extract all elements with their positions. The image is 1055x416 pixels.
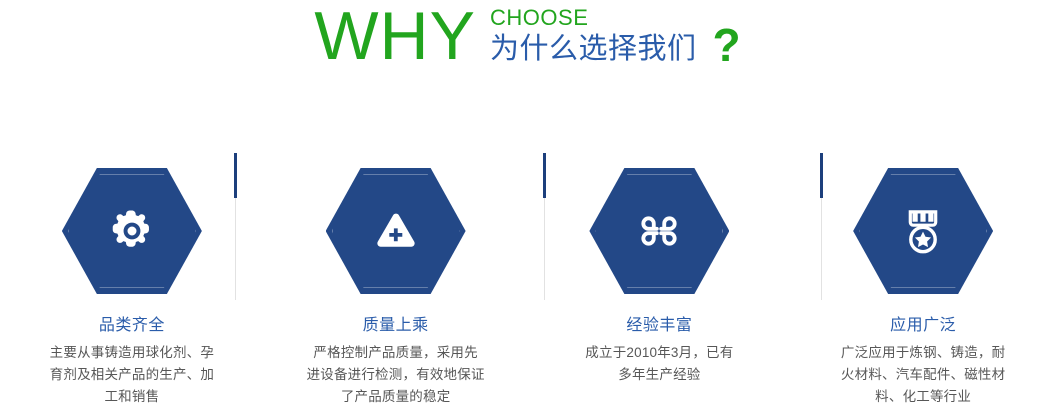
feature-card-title: 品类齐全 — [99, 316, 165, 336]
desc-line: 多年生产经验 — [552, 364, 767, 386]
card-divider-2 — [543, 153, 546, 300]
header-chinese-title: 为什么选择我们 — [490, 32, 697, 66]
divider-line-segment — [235, 198, 236, 300]
feature-card-row: 品类齐全 主要从事铸造用球化剂、孕 育剂及相关产品的生产、加 工和销售 质量上乘… — [0, 150, 1055, 416]
feature-card-4: 应用广泛 广泛应用于炼钢、铸造，耐 火材料、汽车配件、磁性材 料、化工等行业 — [791, 150, 1055, 416]
section-header: WHY CHOOSE 为什么选择我们 ? — [0, 0, 1055, 96]
header-choose-word: CHOOSE — [490, 6, 697, 30]
feature-card-title: 质量上乘 — [363, 316, 429, 336]
desc-line: 工和销售 — [24, 386, 239, 408]
feature-card-description: 广泛应用于炼钢、铸造，耐 火材料、汽车配件、磁性材 料、化工等行业 — [816, 342, 1031, 408]
divider-accent-segment — [543, 153, 546, 198]
desc-line: 严格控制产品质量，采用先 — [288, 342, 503, 364]
divider-line-segment — [821, 198, 822, 300]
header-inner: WHY CHOOSE 为什么选择我们 ? — [314, 0, 740, 70]
card-divider-3 — [820, 153, 823, 300]
divider-accent-segment — [234, 153, 237, 198]
divider-line-segment — [544, 198, 545, 300]
desc-line: 火材料、汽车配件、磁性材 — [816, 364, 1031, 386]
feature-card-description: 成立于2010年3月，已有 多年生产经验 — [552, 342, 767, 386]
divider-accent-segment — [820, 153, 823, 198]
feature-card-2: 质量上乘 严格控制产品质量，采用先 进设备进行检测，有效地保证 了产品质量的稳定 — [264, 150, 528, 416]
desc-line: 进设备进行检测，有效地保证 — [288, 364, 503, 386]
hexagon-badge-2 — [326, 168, 466, 294]
hexagon-badge-3 — [589, 168, 729, 294]
header-question-mark: ? — [713, 2, 741, 68]
feature-card-title: 经验丰富 — [626, 316, 692, 336]
hexagon-badge-1 — [62, 168, 202, 294]
feature-card-3: 经验丰富 成立于2010年3月，已有 多年生产经验 — [528, 150, 792, 416]
feature-card-1: 品类齐全 主要从事铸造用球化剂、孕 育剂及相关产品的生产、加 工和销售 — [0, 150, 264, 416]
desc-line: 广泛应用于炼钢、铸造，耐 — [816, 342, 1031, 364]
triangle-plus-icon — [326, 168, 466, 294]
card-divider-1 — [234, 153, 237, 300]
feature-card-description: 主要从事铸造用球化剂、孕 育剂及相关产品的生产、加 工和销售 — [24, 342, 239, 408]
medal-icon — [853, 168, 993, 294]
header-why-word: WHY — [314, 2, 476, 70]
desc-line: 成立于2010年3月，已有 — [552, 342, 767, 364]
gear-icon — [62, 168, 202, 294]
feature-card-description: 严格控制产品质量，采用先 进设备进行检测，有效地保证 了产品质量的稳定 — [288, 342, 503, 408]
header-text-group: CHOOSE 为什么选择我们 — [490, 2, 697, 66]
desc-line: 料、化工等行业 — [816, 386, 1031, 408]
hexagon-badge-4 — [853, 168, 993, 294]
feature-card-title: 应用广泛 — [890, 316, 956, 336]
desc-line: 了产品质量的稳定 — [288, 386, 503, 408]
desc-line: 育剂及相关产品的生产、加 — [24, 364, 239, 386]
desc-line: 主要从事铸造用球化剂、孕 — [24, 342, 239, 364]
clover-icon — [589, 168, 729, 294]
